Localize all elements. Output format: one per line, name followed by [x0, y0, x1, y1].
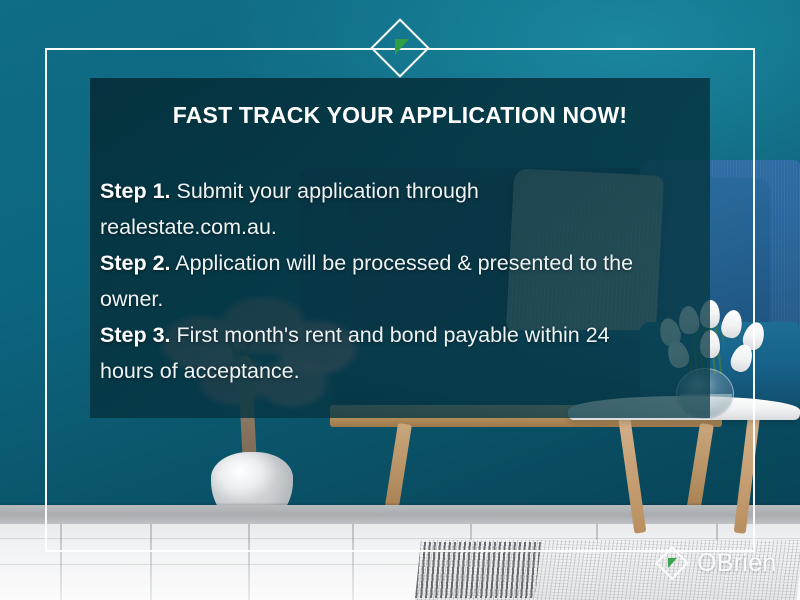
frame-top-right-segment	[425, 48, 755, 50]
poster-canvas: FAST TRACK YOUR APPLICATION NOW! Step 1.…	[0, 0, 800, 600]
logo-green-triangle	[668, 558, 677, 568]
step-2-text: Application will be processed & presente…	[100, 251, 633, 311]
step-3-text: First month's rent and bond payable with…	[100, 323, 610, 383]
page-title: FAST TRACK YOUR APPLICATION NOW!	[120, 95, 680, 129]
steps-list: Step 1. Submit your application through …	[100, 173, 660, 389]
obrien-diamond-logo-icon	[655, 546, 689, 580]
frame-top-left-segment	[45, 48, 375, 50]
poster-content: FAST TRACK YOUR APPLICATION NOW! Step 1.…	[100, 95, 700, 389]
logo-wordmark: OBrien	[697, 549, 777, 578]
step-2-label: Step 2.	[100, 251, 171, 275]
step-3-label: Step 3.	[100, 323, 171, 347]
green-triangle-shape	[395, 39, 409, 55]
diamond-emblem-icon	[371, 19, 429, 77]
obrien-logo: OBrien	[655, 546, 777, 580]
step-1-label: Step 1.	[100, 179, 171, 203]
